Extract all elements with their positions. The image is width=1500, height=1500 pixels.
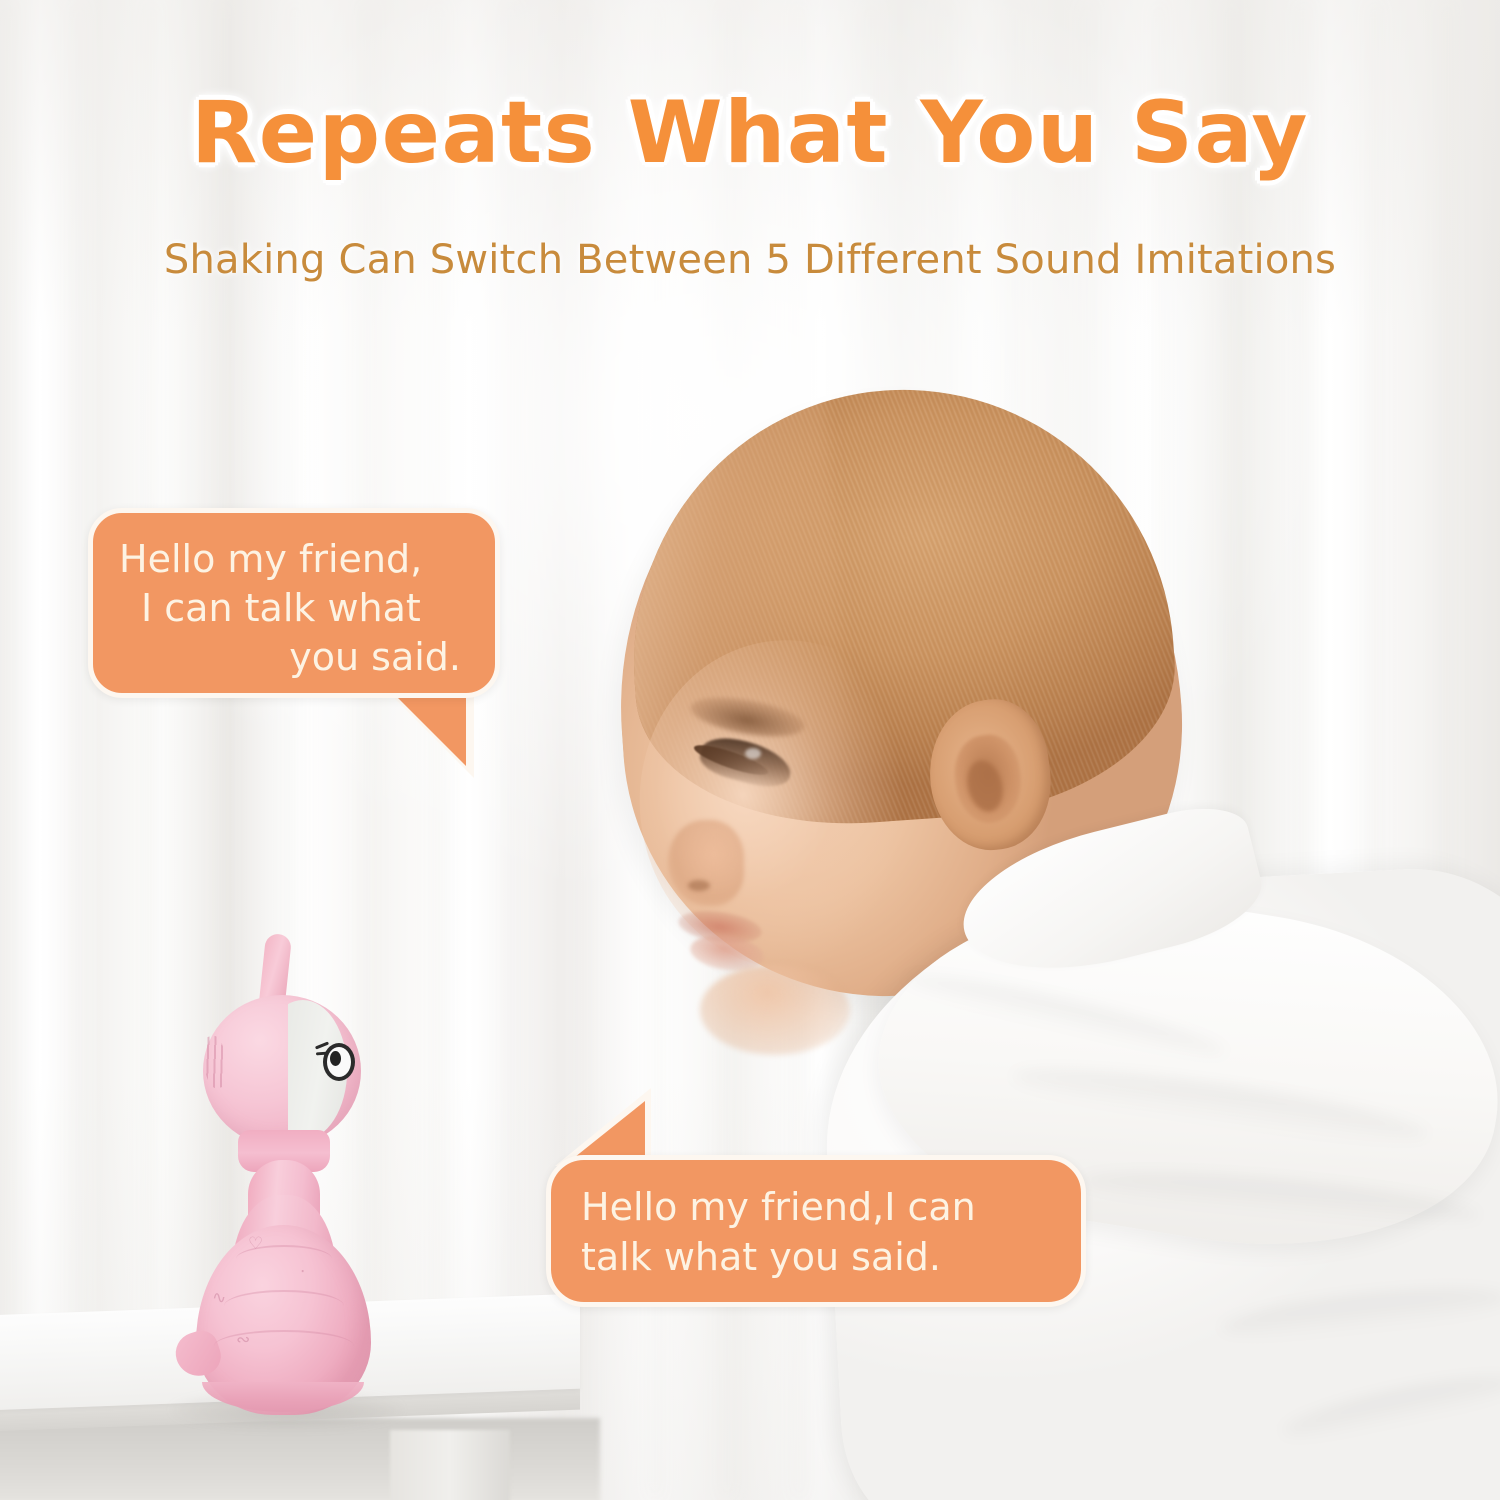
toy-seam-line [214,1330,354,1362]
toy-embossed-mark: ♡ [248,1234,263,1254]
baby-nostril [688,880,710,891]
table-leg [390,1430,510,1500]
product-feature-image: ♡ ∿ ∾ ⋅ Repeats What You Say Shaking Can… [0,0,1500,1500]
subheadline-container: Shaking Can Switch Between 5 Different S… [0,237,1500,283]
bubble-line: I can talk what [119,584,467,633]
toy-embossed-mark: ∿ [212,1288,226,1308]
speech-bubble-top-left: Hello my friend, I can talk what you sai… [88,508,500,698]
toy-seam-line [224,1290,344,1322]
bubble-line: talk what you said. [581,1232,1051,1282]
bubble-line: Hello my friend,I can [581,1182,1051,1232]
toy-embossed-mark: ∾ [236,1330,250,1350]
speech-bubble-bottom-right: Hello my friend,I can talk what you said… [546,1155,1086,1307]
toy-eye-pupil [330,1051,341,1066]
toy-embossed-mark: ⋅ [300,1262,305,1282]
baby-chin [700,965,850,1055]
bubble-line: you said. [119,633,467,682]
bubble-line: Hello my friend, [119,535,467,584]
table-under-shadow [0,1418,600,1500]
baby-nose [668,820,744,906]
page-title: Repeats What You Say [0,88,1500,178]
bubble-tail-fill [398,688,466,766]
page-subtitle: Shaking Can Switch Between 5 Different S… [0,237,1500,283]
headline-container: Repeats What You Say [0,88,1500,178]
baby-eye-highlight [745,748,761,759]
